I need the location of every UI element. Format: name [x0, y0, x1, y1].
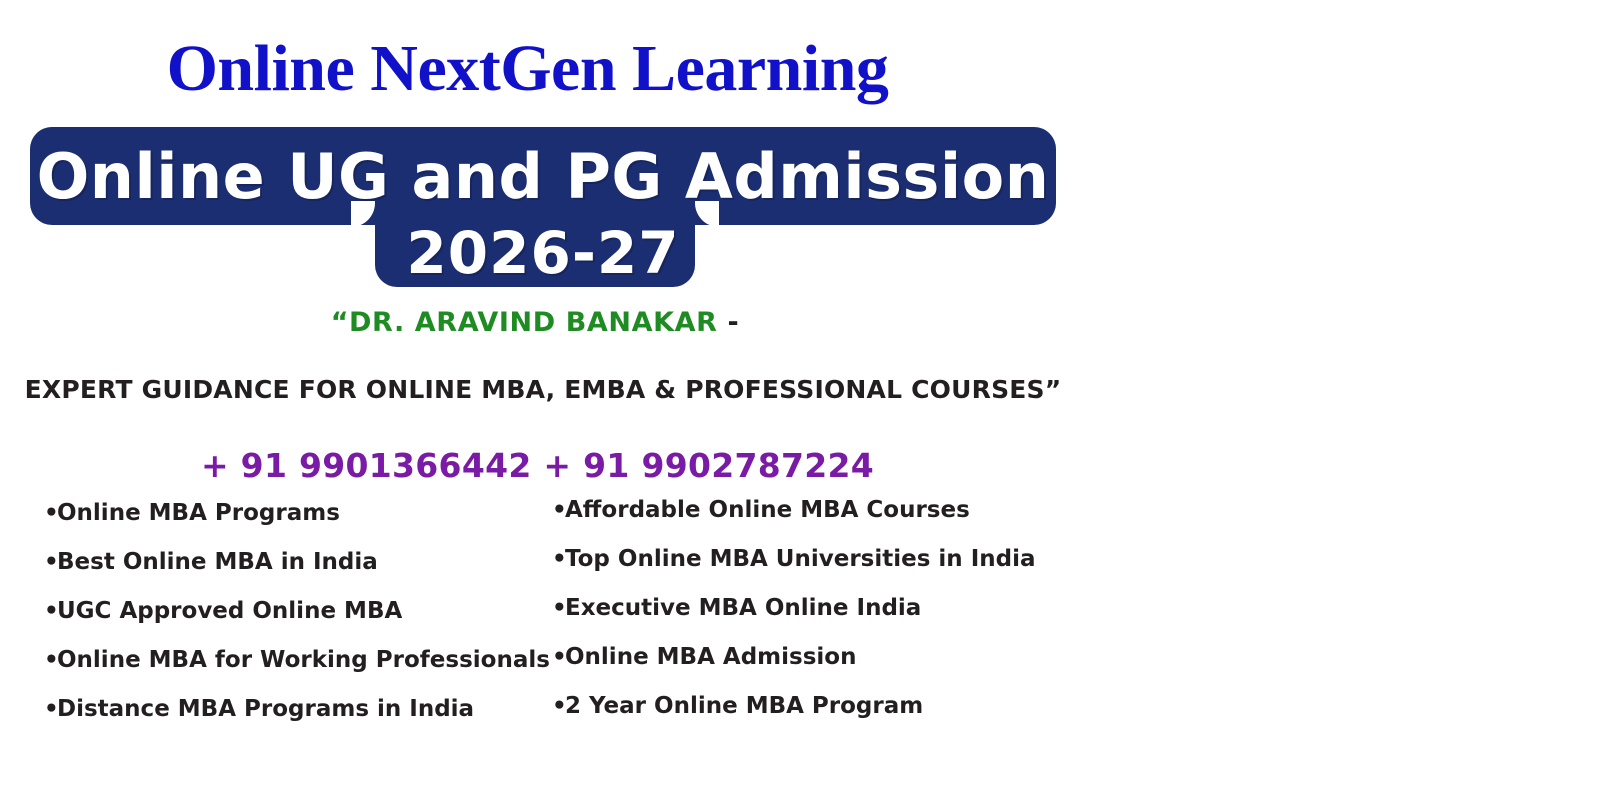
yellow-folder	[1086, 430, 1132, 546]
campus-photo	[1006, 0, 1600, 800]
list-item-label: Top Online MBA Universities in India	[565, 544, 1036, 574]
list-item[interactable]: • Online MBA for Working Professionals	[44, 645, 564, 694]
bullet-icon: •	[552, 544, 565, 574]
bullet-icon: •	[552, 642, 565, 672]
list-item-label: Online MBA Admission	[565, 642, 856, 672]
attribution-open-quote: “	[331, 307, 349, 338]
list-item[interactable]: • 2 Year Online MBA Program	[552, 691, 1052, 740]
coral-folder	[1332, 456, 1392, 568]
bullet-icon: •	[44, 694, 57, 724]
bullet-icon: •	[44, 596, 57, 626]
student-blonde-woman	[1028, 334, 1160, 730]
cream-sweater-right	[1256, 396, 1290, 546]
belt	[1176, 546, 1272, 558]
student-curly-hair-woman	[1290, 338, 1422, 730]
list-item[interactable]: • Affordable Online MBA Courses	[552, 495, 1052, 544]
list-item-label: Online MBA for Working Professionals	[57, 645, 550, 675]
list-item-label: Executive MBA Online India	[565, 593, 921, 623]
bullet-icon: •	[552, 495, 565, 525]
keyword-lists: • Online MBA Programs • Best Online MBA …	[0, 498, 1060, 758]
student-legs	[1316, 568, 1396, 730]
attribution-name: DR. ARAVIND BANAKAR	[349, 307, 717, 338]
tagline: EXPERT GUIDANCE FOR ONLINE MBA, EMBA & P…	[0, 375, 1086, 404]
tower-drum	[1354, 166, 1442, 284]
list-item[interactable]: • Online MBA Admission	[552, 642, 1052, 691]
list-item[interactable]: • UGC Approved Online MBA	[44, 596, 564, 645]
heading-line-year: 2026-27	[30, 217, 1056, 289]
attribution-line: “DR. ARAVIND BANAKAR -	[0, 307, 1070, 338]
student-group	[1006, 310, 1600, 730]
list-item-label: 2 Year Online MBA Program	[565, 691, 923, 721]
list-item[interactable]: • Top Online MBA Universities in India	[552, 544, 1052, 593]
student-man-check-shirt	[1412, 332, 1580, 730]
heading-block: Online UG and PG Admission 2026-27	[30, 127, 1056, 287]
promo-banner: Online NextGen Learning Online UG and PG…	[0, 0, 1600, 800]
student-head	[1072, 354, 1120, 412]
list-item-label: Best Online MBA in India	[57, 547, 378, 577]
list-item-label: Affordable Online MBA Courses	[565, 495, 970, 525]
phone-numbers[interactable]: + 91 9901366442 + 91 9902787224	[0, 446, 1075, 485]
keyword-list-left: • Online MBA Programs • Best Online MBA …	[44, 498, 564, 743]
student-legs	[1176, 556, 1272, 730]
list-item-label: Online MBA Programs	[57, 498, 340, 528]
heading-line-primary: Online UG and PG Admission	[30, 135, 1056, 219]
student-legs	[1058, 550, 1134, 730]
brand-title: Online NextGen Learning	[0, 34, 1055, 103]
tower-balustrade	[1344, 132, 1452, 168]
keyword-list-right: • Affordable Online MBA Courses • Top On…	[552, 495, 1052, 740]
palace-turret-left	[1298, 150, 1324, 300]
list-item[interactable]: • Online MBA Programs	[44, 498, 564, 547]
student-legs	[1446, 554, 1550, 730]
photo-torn-mask	[1006, 0, 1600, 800]
list-item-label: Distance MBA Programs in India	[57, 694, 474, 724]
attribution-dash: -	[718, 307, 740, 338]
list-item[interactable]: • Best Online MBA in India	[44, 547, 564, 596]
cream-sweater-left	[1160, 396, 1194, 546]
list-item[interactable]: • Executive MBA Online India	[552, 593, 1052, 642]
bullet-icon: •	[552, 593, 565, 623]
list-item[interactable]: • Distance MBA Programs in India	[44, 694, 564, 743]
bullet-icon: •	[44, 645, 57, 675]
headphones-icon	[1326, 414, 1392, 440]
student-man-white-tee	[1152, 330, 1294, 730]
list-item-label: UGC Approved Online MBA	[57, 596, 402, 626]
bullet-icon: •	[44, 498, 57, 528]
bullet-icon: •	[44, 547, 57, 577]
bullet-icon: •	[552, 691, 565, 721]
